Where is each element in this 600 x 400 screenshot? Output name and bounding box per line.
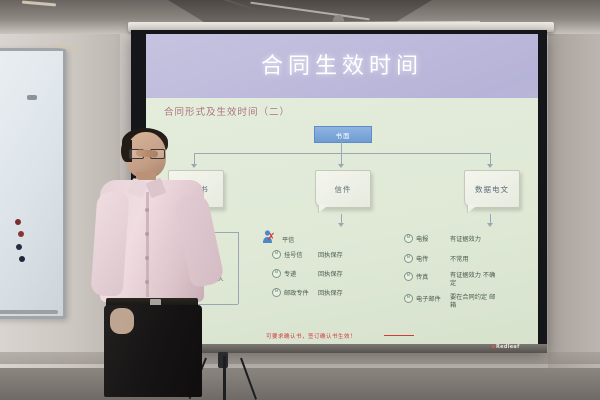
list-item: B 邮政专件 回执保存 xyxy=(272,286,386,299)
baseboard xyxy=(0,352,600,364)
whiteboard-magnet xyxy=(15,219,21,225)
branch-list-data-message: B 电报 有证据效力 B 电传 不常用 B 传真 有证据效力 不确定 xyxy=(404,232,532,312)
branch-list-letter: ✗ 平信 B 挂号信 回执保存 B 专递 回执保存 B xyxy=(254,230,386,299)
item-value: 回执保存 xyxy=(318,269,343,278)
item-key: 电子邮件 xyxy=(416,294,450,303)
slide-title: 合同生效时间 xyxy=(146,48,538,80)
shirt-button xyxy=(145,280,149,284)
list-item: B 电报 有证据效力 xyxy=(404,232,532,245)
arrowhead-down-mid xyxy=(338,223,344,227)
item-value: 回执保存 xyxy=(318,288,343,297)
diagram-node-letter: 信件 xyxy=(315,170,371,208)
item-value: 要在合同约定 邮箱 xyxy=(450,294,498,309)
shirt-button xyxy=(145,208,149,212)
slide-footnote: 可要求确认书，签订确认书生效！ xyxy=(266,332,356,340)
item-key: 平信 xyxy=(282,235,294,244)
brand-label: Redleaf xyxy=(496,344,520,350)
item-value: 有证据效力 xyxy=(450,234,481,243)
screen-brand-logo: Redleaf xyxy=(492,344,520,350)
whiteboard-magnet xyxy=(16,244,22,250)
slide-title-band: 合同生效时间 xyxy=(146,34,538,98)
slide-subtitle: 合同形式及生效时间（二） xyxy=(164,104,290,118)
item-key: 传真 xyxy=(416,272,450,281)
list-item: B 专递 回执保存 xyxy=(272,267,386,280)
arrowhead-down-right xyxy=(487,223,493,227)
classroom-scene: 合同生效时间 合同形式及生效时间（二） 书面 合同书 信件 数据电文 xyxy=(0,0,600,400)
list-item: B 挂号信 回执保存 xyxy=(272,248,386,261)
list-item: B 电传 不常用 xyxy=(404,252,532,265)
footnote-underline xyxy=(384,335,414,336)
item-value: 有证据效力 不确定 xyxy=(450,272,496,287)
item-key: 挂号信 xyxy=(284,250,318,259)
bullet-icon: B xyxy=(272,288,281,297)
bullet-icon: B xyxy=(272,250,281,259)
diagram-root-node: 书面 xyxy=(314,126,372,143)
presenter xyxy=(96,132,214,368)
item-key: 邮政专件 xyxy=(284,288,318,297)
bullet-icon: B xyxy=(404,234,413,243)
connector-vertical-root xyxy=(341,141,342,153)
item-key: 电报 xyxy=(416,234,450,243)
shirt-button xyxy=(145,256,149,260)
floor xyxy=(0,368,600,400)
shirt-button xyxy=(145,232,149,236)
item-key: 专递 xyxy=(284,269,318,278)
whiteboard-magnet xyxy=(19,256,25,262)
bullet-icon: B xyxy=(404,254,413,263)
bullet-icon: B xyxy=(272,269,281,278)
cross-out-icon: ✗ xyxy=(267,233,275,243)
list-item: ✗ 平信 xyxy=(254,230,386,248)
connector-horizontal xyxy=(194,153,490,154)
item-value: 不常用 xyxy=(450,254,469,263)
bullet-icon: B xyxy=(404,294,413,303)
presenter-pointing-finger xyxy=(136,149,158,158)
item-key: 电传 xyxy=(416,254,450,263)
whiteboard-clip xyxy=(27,95,37,100)
list-item: B 传真 有证据效力 不确定 xyxy=(404,272,532,290)
arrowhead-mid xyxy=(338,164,344,168)
bracket-left-vertical xyxy=(238,232,239,304)
tripod-leg xyxy=(223,356,226,400)
list-item: B 电子邮件 要在合同约定 邮箱 xyxy=(404,294,532,312)
bullet-icon: B xyxy=(404,272,413,281)
right-wall xyxy=(548,0,600,400)
whiteboard-magnet xyxy=(18,231,24,237)
whiteboard xyxy=(0,48,66,319)
diagram-node-data-message: 数据电文 xyxy=(464,170,520,208)
arrowhead-right xyxy=(487,164,493,168)
presenter-hand-in-pocket xyxy=(110,308,134,334)
brand-dot-icon xyxy=(492,345,495,348)
item-value: 回执保存 xyxy=(318,250,343,259)
whiteboard-marker-tray xyxy=(0,310,58,314)
